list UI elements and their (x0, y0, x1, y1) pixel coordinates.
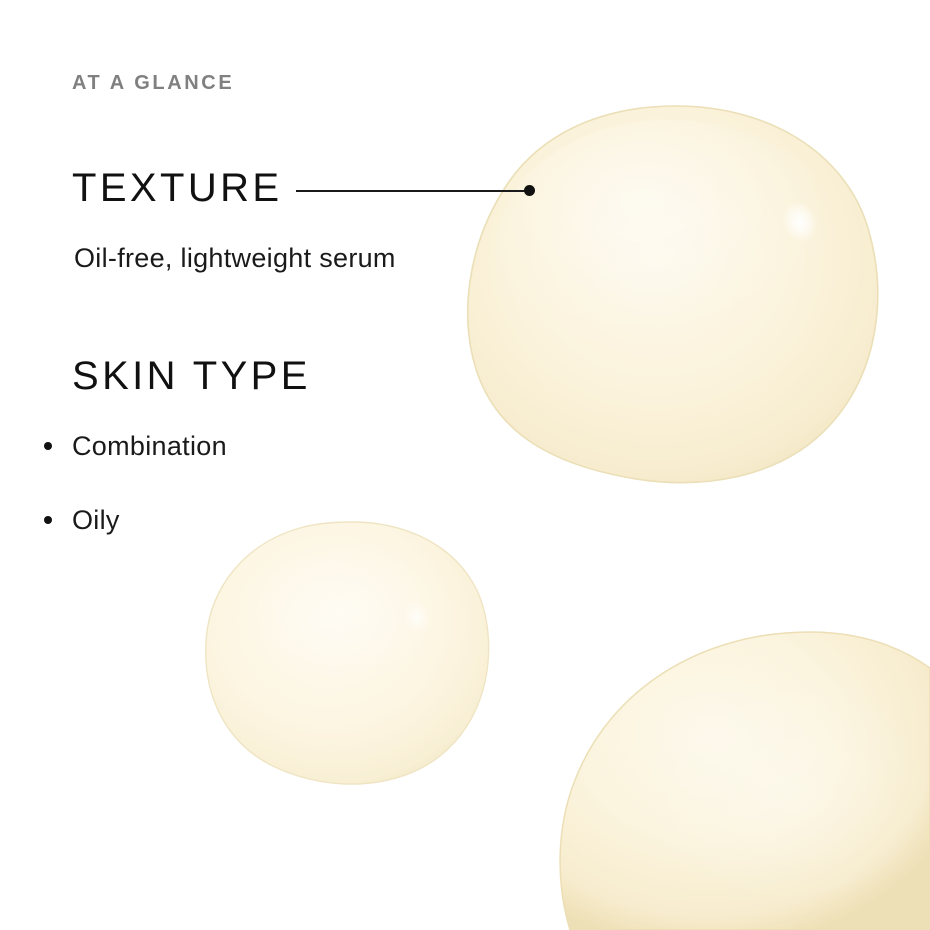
texture-heading: TEXTURE (72, 168, 282, 208)
at-a-glance-eyebrow: AT A GLANCE (72, 72, 234, 95)
bullet-dot-icon (44, 516, 52, 524)
skin-type-list: Combination Oily (44, 430, 227, 579)
infographic-text-layer: AT A GLANCE TEXTURE Oil-free, lightweigh… (0, 0, 930, 930)
list-item-label: Oily (72, 505, 120, 535)
callout-endpoint-dot (524, 185, 535, 196)
callout-line (296, 190, 530, 192)
bullet-dot-icon (44, 442, 52, 450)
texture-callout-connector (296, 180, 540, 202)
list-item: Combination (44, 430, 227, 462)
list-item: Oily (44, 504, 227, 536)
list-item-label: Combination (72, 431, 227, 461)
texture-description: Oil-free, lightweight serum (74, 242, 396, 274)
skin-type-heading: SKIN TYPE (72, 356, 311, 396)
product-infographic-canvas: AT A GLANCE TEXTURE Oil-free, lightweigh… (0, 0, 930, 930)
